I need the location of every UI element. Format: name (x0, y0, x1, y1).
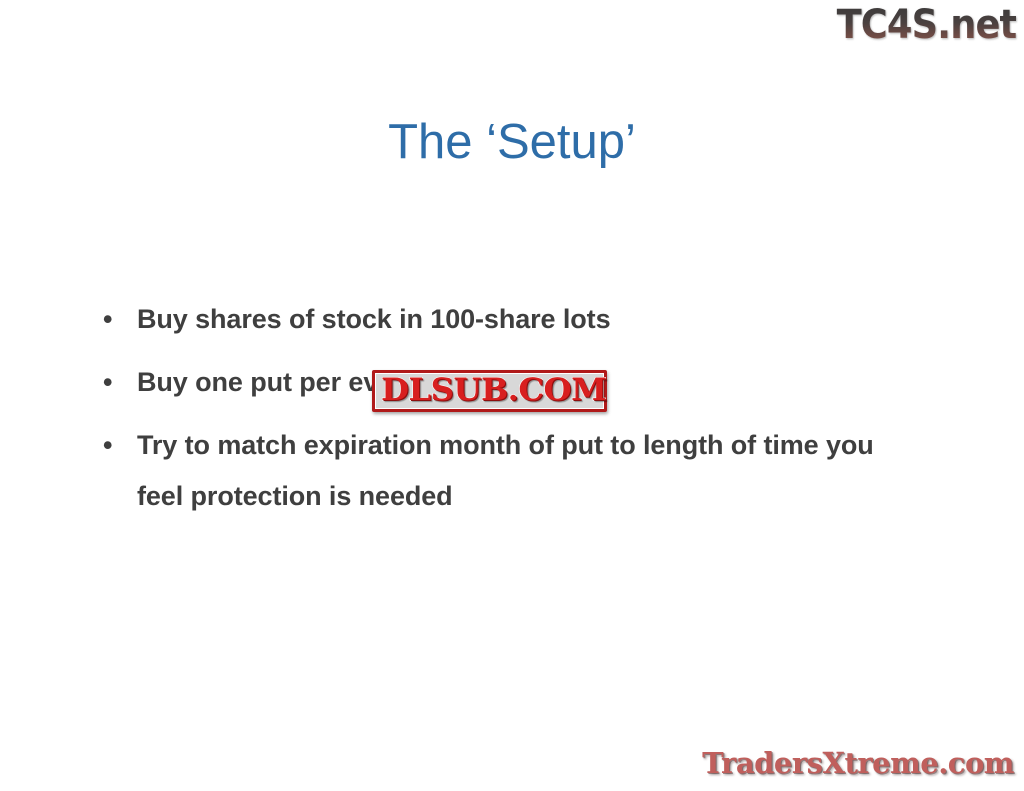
dlsub-watermark-label: DLSUB.COM (381, 375, 606, 406)
bullet-dot-icon: • (103, 357, 123, 408)
list-item-label: Buy shares of stock in 100-share lots (137, 294, 896, 345)
dlsub-watermark: DLSUB.COM (372, 370, 607, 412)
slide-canvas: TC4S.net The ‘Setup’ • Buy shares of sto… (0, 0, 1024, 791)
bullet-dot-icon: • (103, 420, 123, 471)
list-item: • Buy shares of stock in 100-share lots (96, 294, 896, 345)
bullet-dot-icon: • (103, 294, 123, 345)
list-item-label: Try to match expiration month of put to … (137, 420, 896, 522)
tradersxtreme-logo: TradersXtreme.com (702, 746, 1014, 780)
page-title: The ‘Setup’ (0, 112, 1024, 172)
list-item: • Try to match expiration month of put t… (96, 420, 896, 522)
tc4s-logo: TC4S.net (836, 2, 1016, 48)
